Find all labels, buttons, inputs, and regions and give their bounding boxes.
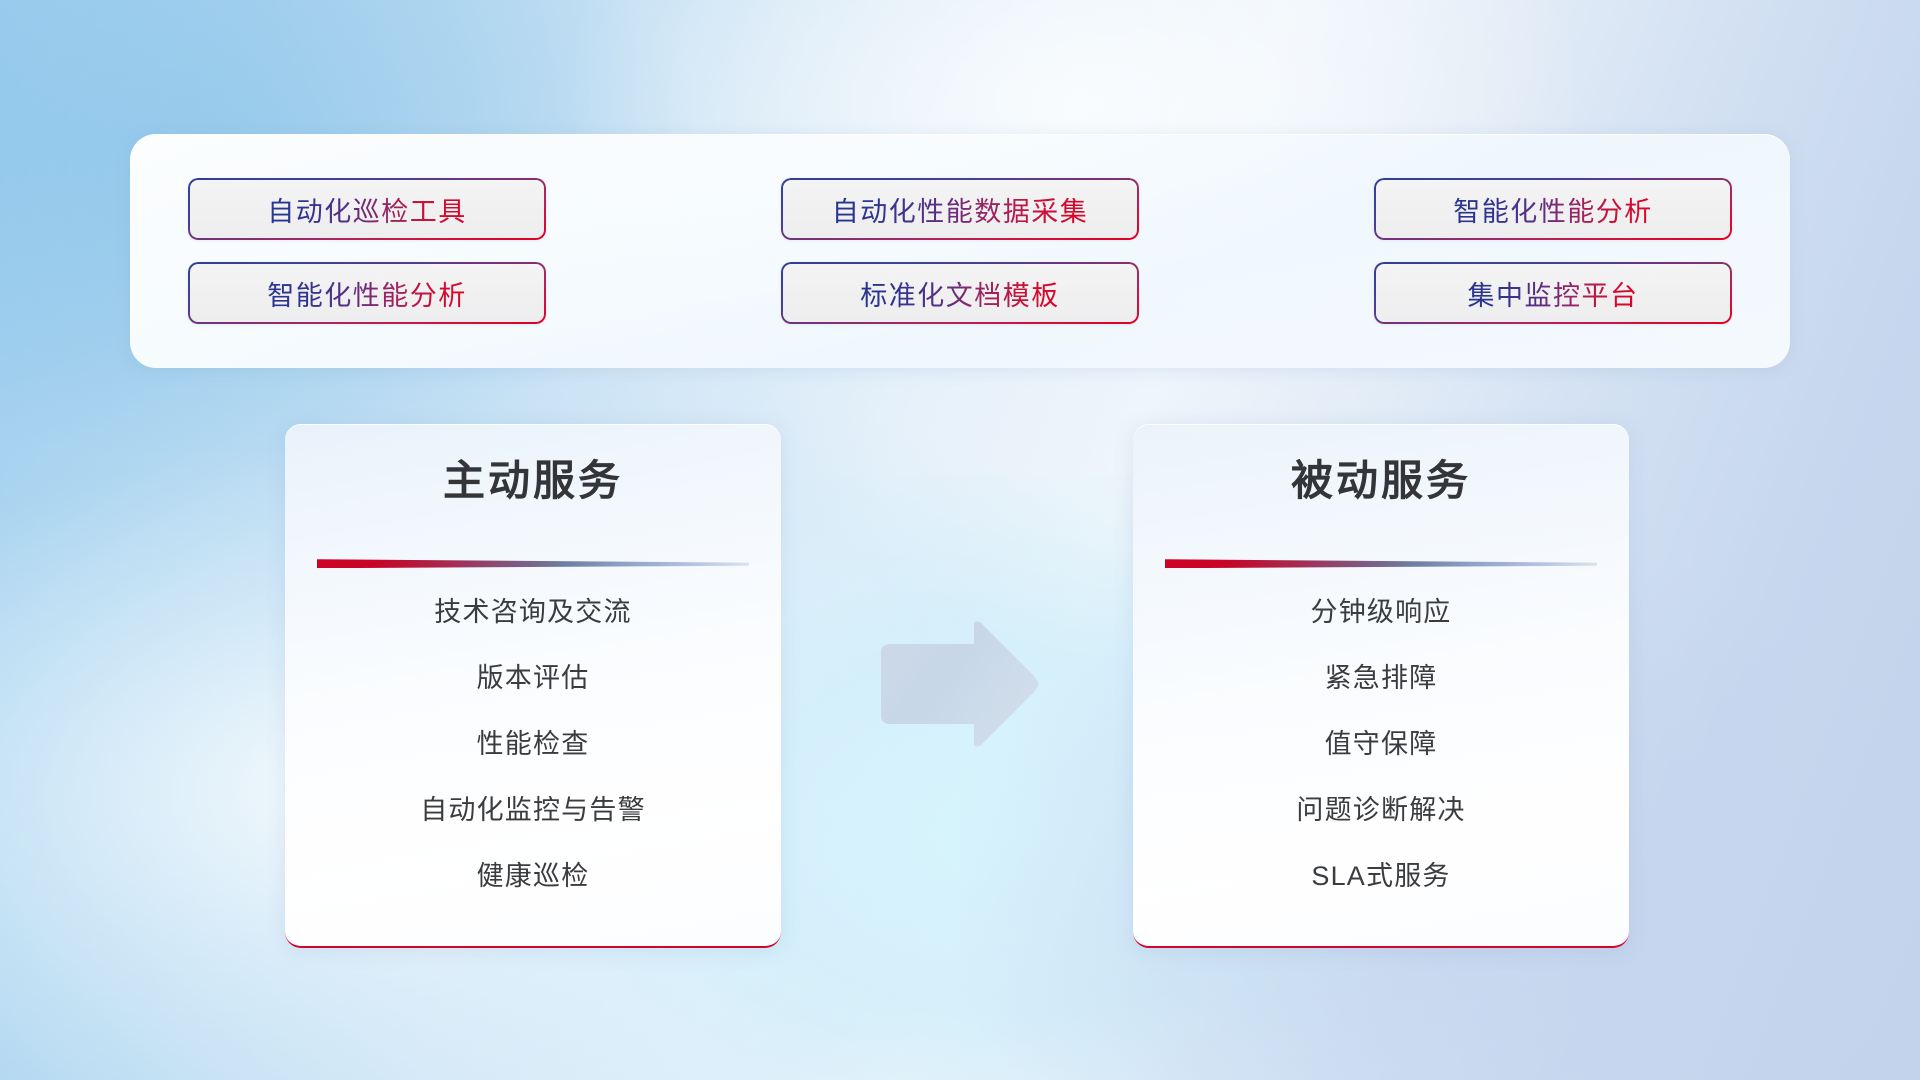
arrow-right-icon	[873, 619, 1041, 749]
capability-pill-standardized-document-template[interactable]: 标准化文档模板	[781, 262, 1139, 324]
capability-pill-intelligent-performance-analysis-2[interactable]: 智能化性能分析	[188, 262, 546, 324]
capability-row-1: 自动化巡检工具 自动化性能数据采集 智能化性能分析	[188, 178, 1732, 240]
list-item: 健康巡检	[477, 854, 590, 893]
capability-pill-centralized-monitoring-platform[interactable]: 集中监控平台	[1374, 262, 1732, 324]
capability-pill-label: 自动化巡检工具	[267, 190, 467, 229]
service-item-list: 分钟级响应 紧急排障 值守保障 问题诊断解决 SLA式服务	[1133, 590, 1629, 893]
list-item: 分钟级响应	[1311, 590, 1452, 629]
capability-pill-label: 集中监控平台	[1468, 274, 1639, 313]
list-item: 版本评估	[477, 656, 590, 695]
capability-pill-automated-inspection-tool[interactable]: 自动化巡检工具	[188, 178, 546, 240]
list-item: 自动化监控与告警	[420, 788, 646, 827]
service-card-proactive: 主动服务 技术咨询及交流 版本评估 性能检查 自动化监控与告警 健康巡检	[285, 424, 781, 948]
capability-pill-label: 智能化性能分析	[267, 274, 467, 313]
capability-pill-label: 智能化性能分析	[1453, 190, 1653, 229]
title-divider	[1165, 559, 1597, 568]
title-divider-bar	[1165, 559, 1597, 568]
list-item: 技术咨询及交流	[434, 590, 631, 629]
capability-pill-intelligent-performance-analysis[interactable]: 智能化性能分析	[1374, 178, 1732, 240]
list-item: 问题诊断解决	[1296, 788, 1465, 827]
service-card-reactive: 被动服务 分钟级响应 紧急排障 值守保障 问题诊断解决 SLA式服务	[1133, 424, 1629, 948]
capability-pill-label: 自动化性能数据采集	[832, 190, 1089, 229]
capability-pill-automated-performance-data-collection[interactable]: 自动化性能数据采集	[781, 178, 1139, 240]
service-item-list: 技术咨询及交流 版本评估 性能检查 自动化监控与告警 健康巡检	[285, 590, 781, 893]
service-card-title: 被动服务	[1291, 456, 1471, 506]
list-item: 性能检查	[477, 722, 590, 761]
infographic-stage: 自动化巡检工具 自动化性能数据采集 智能化性能分析 智能化性能分析 标准化文档模…	[0, 0, 1920, 1080]
list-item: 值守保障	[1325, 722, 1438, 761]
capability-pill-label: 标准化文档模板	[860, 274, 1060, 313]
list-item: SLA式服务	[1311, 854, 1450, 893]
list-item: 紧急排障	[1325, 656, 1438, 695]
capability-row-2: 智能化性能分析 标准化文档模板 集中监控平台	[188, 262, 1732, 324]
title-divider	[317, 559, 749, 568]
service-card-title: 主动服务	[443, 456, 623, 506]
title-divider-bar	[317, 559, 749, 568]
capability-panel: 自动化巡检工具 自动化性能数据采集 智能化性能分析 智能化性能分析 标准化文档模…	[130, 134, 1790, 368]
